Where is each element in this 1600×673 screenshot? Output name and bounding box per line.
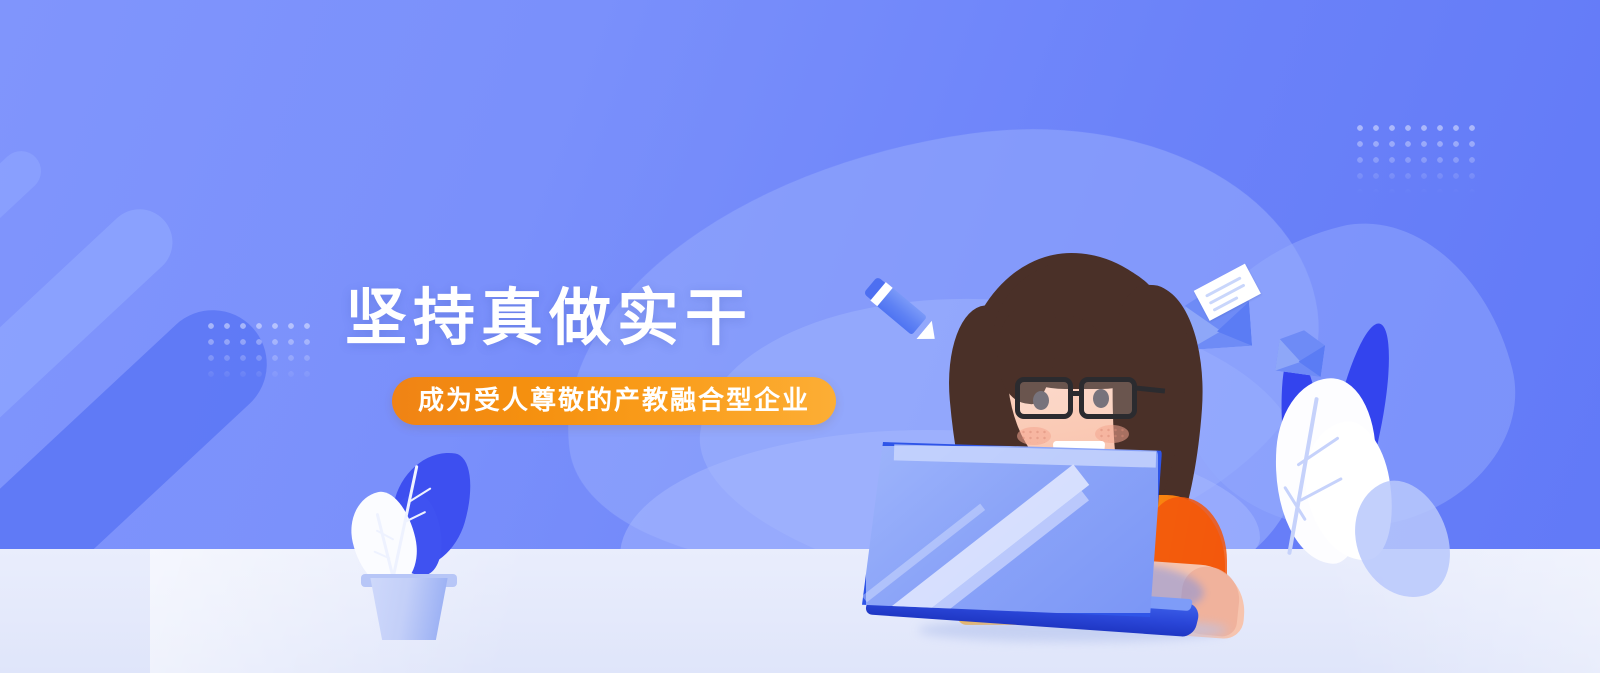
laptop-icon — [862, 442, 1222, 640]
glasses-temple-right — [1135, 385, 1165, 393]
dot-grid-right-icon — [1352, 120, 1480, 200]
subtitle-badge: 成为受人尊敬的产教融合型企业 — [392, 377, 836, 425]
plant-pot — [367, 578, 451, 640]
freckles-left — [1020, 429, 1048, 443]
page-title: 坚持真做实干 — [345, 286, 836, 353]
laptop-lid-stripe-b — [924, 491, 1089, 624]
potted-plant-icon — [345, 450, 470, 640]
freckles-right — [1098, 427, 1126, 441]
hero-copy: 坚持真做实干 成为受人尊敬的产教融合型企业 — [345, 286, 836, 425]
dot-grid-left-icon — [203, 318, 315, 390]
glasses-bridge — [1071, 391, 1083, 396]
laptop-lid-top-band — [894, 444, 1156, 467]
laptop-lid-stripe-a — [892, 464, 1089, 626]
glasses-lens-right — [1079, 377, 1137, 419]
laptop-lid — [862, 442, 1162, 617]
envelope-secondary-icon — [1275, 327, 1327, 377]
hero-banner: 坚持真做实干 成为受人尊敬的产教融合型企业 — [0, 0, 1600, 673]
foliage-icon — [1245, 330, 1420, 560]
glasses-lens-left — [1015, 377, 1073, 419]
glasses-icon — [1015, 377, 1163, 419]
